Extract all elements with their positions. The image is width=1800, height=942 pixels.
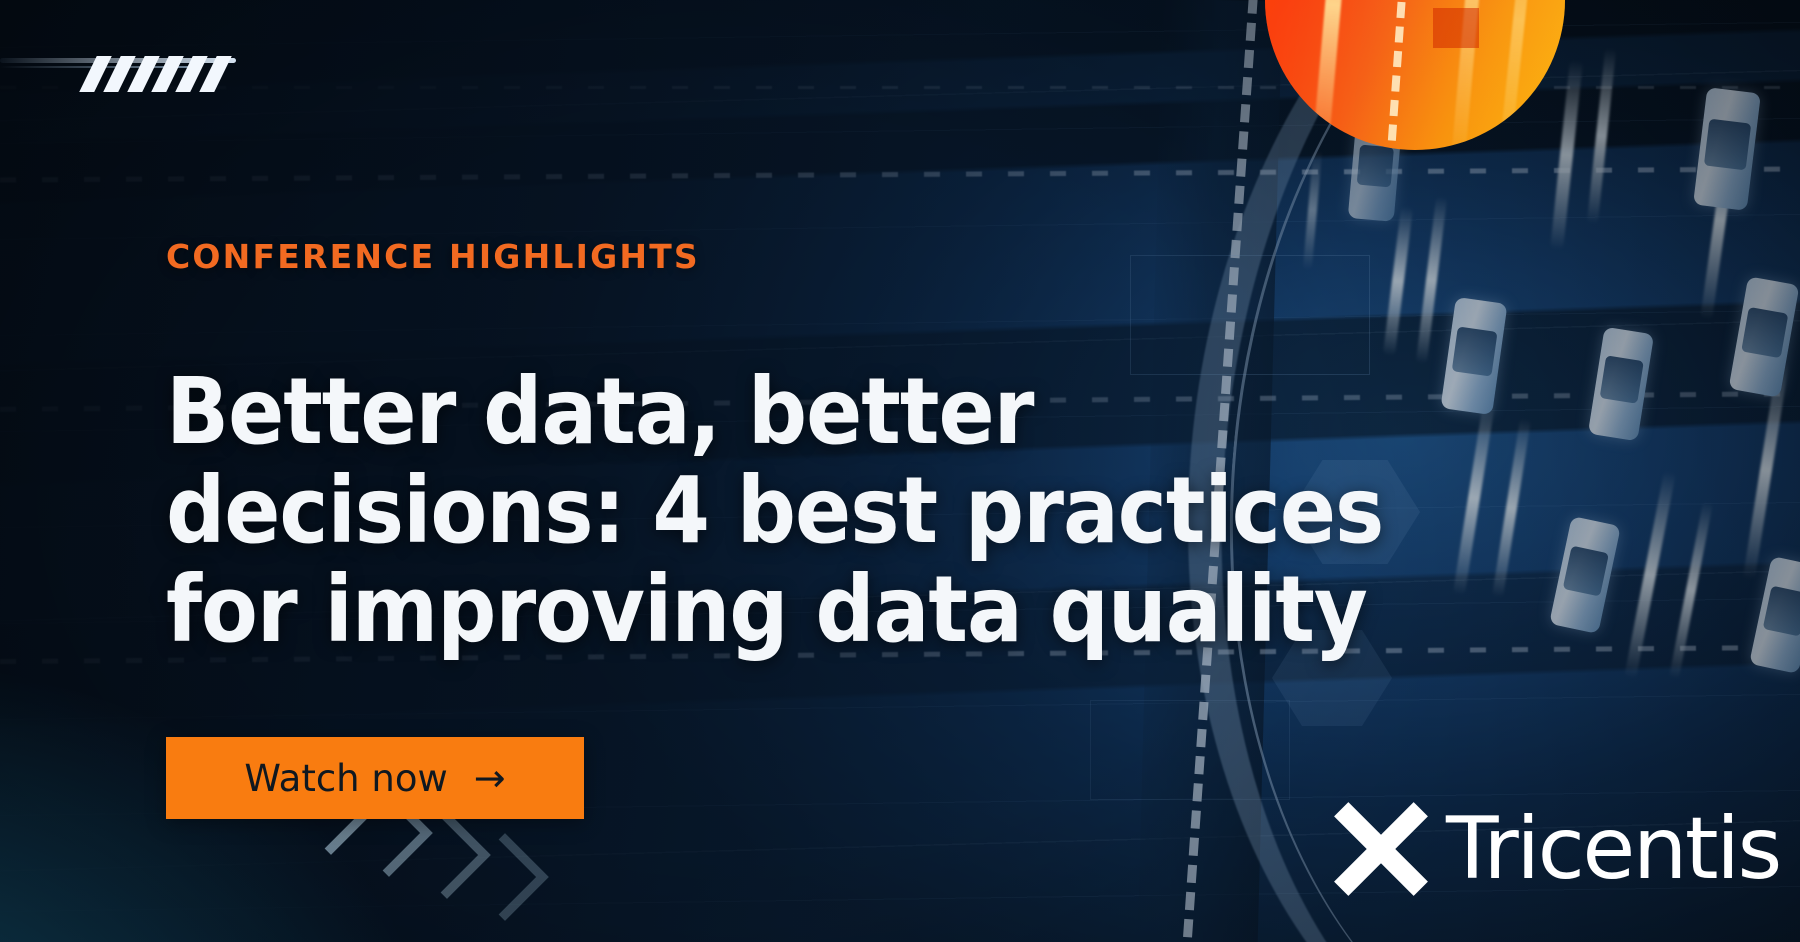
arrow-right-icon: → — [474, 759, 506, 797]
banner-content: CONFERENCE HIGHLIGHTS Better data, bette… — [0, 0, 1800, 942]
conference-highlights-banner: CONFERENCE HIGHLIGHTS Better data, bette… — [0, 0, 1800, 942]
eyebrow-label: CONFERENCE HIGHLIGHTS — [166, 237, 700, 276]
headline-line-3: for improving data quality — [166, 560, 1326, 659]
watch-now-button[interactable]: Watch now → — [166, 737, 584, 819]
tricentis-wordmark: Tricentis — [1446, 806, 1780, 892]
watch-now-label: Watch now — [244, 757, 447, 800]
headline-line-1: Better data, better — [166, 362, 1326, 461]
tricentis-logo[interactable]: Tricentis — [1330, 798, 1780, 900]
tricentis-x-icon — [1330, 798, 1432, 900]
page-title: Better data, better decisions: 4 best pr… — [166, 362, 1326, 660]
headline-line-2: decisions: 4 best practices — [166, 461, 1326, 560]
